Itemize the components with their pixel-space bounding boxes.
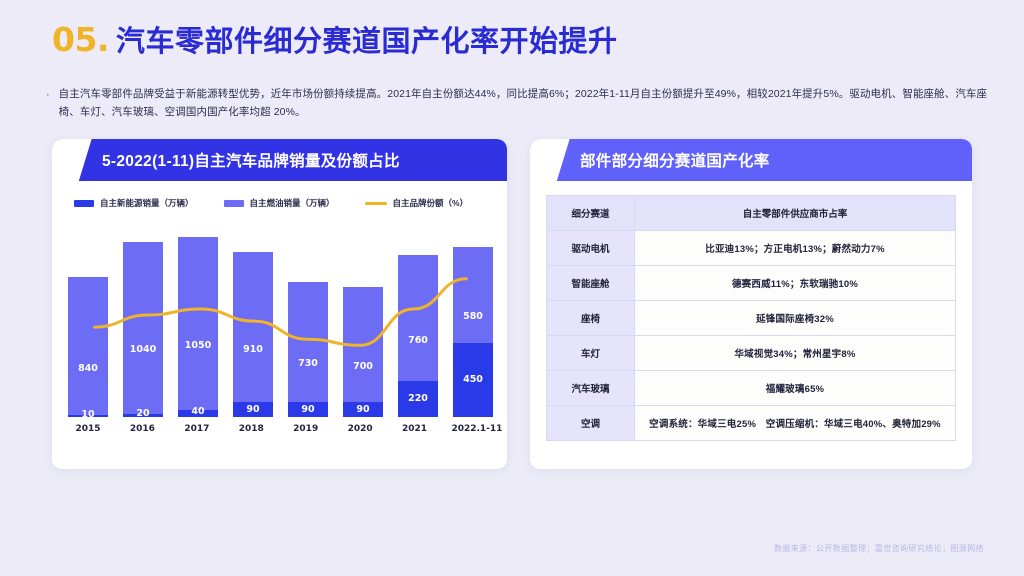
bar-column: 84010	[68, 219, 108, 417]
cell-category: 汽车玻璃	[547, 371, 635, 406]
bar-segment-nev: 450	[453, 343, 493, 417]
table-row: 驱动电机比亚迪13%；方正电机13%；蔚然动力7%	[547, 231, 956, 266]
bar-segment-nev: 220	[398, 381, 438, 417]
table-row: 智能座舱德赛西威11%；东软瑞驰10%	[547, 266, 956, 301]
bar-value-nev: 90	[356, 404, 369, 415]
cell-category: 驱动电机	[547, 231, 635, 266]
bar-column: 73090	[288, 219, 328, 417]
table-card-title: 部件部分细分赛道国产化率	[580, 149, 770, 171]
bar-column: 760220	[398, 219, 438, 417]
bar-value-fuel: 730	[298, 358, 318, 369]
x-axis-tick: 2018	[231, 424, 271, 434]
bar-column: 91090	[233, 219, 273, 417]
bar-value-nev: 90	[301, 404, 314, 415]
legend-item-share: 自主品牌份额（%）	[365, 197, 469, 209]
table-row: 座椅延锋国际座椅32%	[547, 301, 956, 336]
x-axis-tick: 2021	[395, 424, 435, 434]
legend-label-nev: 自主新能源销量（万辆）	[100, 197, 194, 209]
table-card: 部件部分细分赛道国产化率 细分赛道 自主零部件供应商市占率 驱动电机比亚迪13%…	[530, 139, 972, 469]
bar-segment-nev: 10	[68, 415, 108, 417]
bullet-marker-icon: ·	[46, 86, 50, 121]
bar-value-nev: 40	[191, 406, 204, 417]
cell-value: 空调系统：华域三电25% 空调压缩机：华域三电40%、奥特加29%	[635, 406, 956, 441]
chart-card: 5-2022(1-11)自主汽车品牌销量及份额占比 自主新能源销量（万辆） 自主…	[52, 139, 507, 469]
x-axis-tick: 2016	[122, 424, 162, 434]
bar-column: 70090	[343, 219, 383, 417]
legend-item-nev: 自主新能源销量（万辆）	[74, 197, 194, 209]
table-row: 汽车玻璃福耀玻璃65%	[547, 371, 956, 406]
bar-segment-fuel: 1050	[178, 237, 218, 410]
bar-value-fuel: 1040	[130, 344, 156, 355]
legend-label-share: 自主品牌份额（%）	[393, 197, 469, 209]
bar-value-fuel: 580	[463, 311, 483, 322]
source-note: 数据来源：公开数据整理；嘉世咨询研究结论；图源网络	[774, 543, 984, 554]
x-axis-tick: 2019	[286, 424, 326, 434]
legend-label-fuel: 自主燃油销量（万辆）	[250, 197, 335, 209]
chart-card-title: 5-2022(1-11)自主汽车品牌销量及份额占比	[102, 149, 400, 171]
table-row: 空调空调系统：华域三电25% 空调压缩机：华域三电40%、奥特加29%	[547, 406, 956, 441]
bar-segment-fuel: 840	[68, 277, 108, 416]
bar-value-nev: 450	[463, 374, 483, 385]
cell-category: 座椅	[547, 301, 635, 336]
bar-value-fuel: 760	[408, 335, 428, 346]
page-title: 05. 汽车零部件细分赛道国产化率开始提升	[52, 18, 617, 60]
table-wrapper: 细分赛道 自主零部件供应商市占率 驱动电机比亚迪13%；方正电机13%；蔚然动力…	[530, 181, 972, 441]
bar-segment-fuel: 730	[288, 282, 328, 402]
bar-group: 8401010402010504091090730907009076022058…	[68, 219, 493, 417]
bar-segment-fuel: 700	[343, 287, 383, 403]
title-text: 汽车零部件细分赛道国产化率开始提升	[116, 18, 618, 60]
chart-plot-area: 8401010402010504091090730907009076022058…	[68, 219, 493, 417]
bar-segment-nev: 90	[343, 402, 383, 417]
bar-value-fuel: 1050	[185, 340, 211, 351]
bar-value-fuel: 840	[78, 363, 98, 374]
bar-value-nev: 90	[246, 404, 259, 415]
bar-segment-fuel: 580	[453, 247, 493, 343]
bar-segment-nev: 90	[233, 402, 273, 417]
summary-bullet: · 自主汽车零部件品牌受益于新能源转型优势，近年市场份额持续提高。2021年自主…	[46, 86, 991, 121]
x-axis-tick: 2015	[68, 424, 108, 434]
chart-x-axis: 20152016201720182019202020212022.1-11	[68, 424, 493, 434]
cell-value: 比亚迪13%；方正电机13%；蔚然动力7%	[635, 231, 956, 266]
cell-value: 福耀玻璃65%	[635, 371, 956, 406]
localization-rate-table: 细分赛道 自主零部件供应商市占率 驱动电机比亚迪13%；方正电机13%；蔚然动力…	[546, 195, 956, 441]
x-axis-tick: 2020	[340, 424, 380, 434]
bar-value-nev: 10	[81, 409, 94, 420]
cell-value: 德赛西威11%；东软瑞驰10%	[635, 266, 956, 301]
bar-value-fuel: 700	[353, 361, 373, 372]
bar-segment-nev: 90	[288, 402, 328, 417]
x-axis-tick: 2022.1-11	[449, 424, 505, 434]
cell-category: 空调	[547, 406, 635, 441]
cell-category: 车灯	[547, 336, 635, 371]
summary-text: 自主汽车零部件品牌受益于新能源转型优势，近年市场份额持续提高。2021年自主份额…	[59, 86, 991, 121]
bar-value-nev: 220	[408, 393, 428, 404]
chart-legend: 自主新能源销量（万辆） 自主燃油销量（万辆） 自主品牌份额（%）	[52, 181, 507, 209]
legend-swatch-fuel	[224, 200, 244, 207]
bar-segment-fuel: 910	[233, 252, 273, 402]
cell-value: 华域视觉34%；常州星宇8%	[635, 336, 956, 371]
bar-segment-nev: 40	[178, 410, 218, 417]
x-axis-tick: 2017	[177, 424, 217, 434]
table-head: 细分赛道 自主零部件供应商市占率	[547, 196, 956, 231]
bar-column: 104020	[123, 219, 163, 417]
column-header-value: 自主零部件供应商市占率	[635, 196, 956, 231]
table-header-row: 细分赛道 自主零部件供应商市占率	[547, 196, 956, 231]
chart-card-header: 5-2022(1-11)自主汽车品牌销量及份额占比	[52, 139, 507, 181]
bar-value-nev: 20	[136, 408, 149, 419]
bar-value-fuel: 910	[243, 344, 263, 355]
bar-segment-nev: 20	[123, 414, 163, 417]
legend-line-share	[365, 202, 387, 205]
cell-category: 智能座舱	[547, 266, 635, 301]
cell-value: 延锋国际座椅32%	[635, 301, 956, 336]
bar-segment-fuel: 760	[398, 255, 438, 380]
legend-item-fuel: 自主燃油销量（万辆）	[224, 197, 335, 209]
table-body: 驱动电机比亚迪13%；方正电机13%；蔚然动力7%智能座舱德赛西威11%；东软瑞…	[547, 231, 956, 441]
bar-column: 105040	[178, 219, 218, 417]
slide-root: 05. 汽车零部件细分赛道国产化率开始提升 · 自主汽车零部件品牌受益于新能源转…	[0, 0, 1024, 576]
bar-segment-fuel: 1040	[123, 242, 163, 414]
legend-swatch-nev	[74, 200, 94, 207]
table-row: 车灯华域视觉34%；常州星宇8%	[547, 336, 956, 371]
bar-column: 580450	[453, 219, 493, 417]
title-number: 05.	[52, 20, 109, 59]
column-header-category: 细分赛道	[547, 196, 635, 231]
table-card-header: 部件部分细分赛道国产化率	[530, 139, 972, 181]
